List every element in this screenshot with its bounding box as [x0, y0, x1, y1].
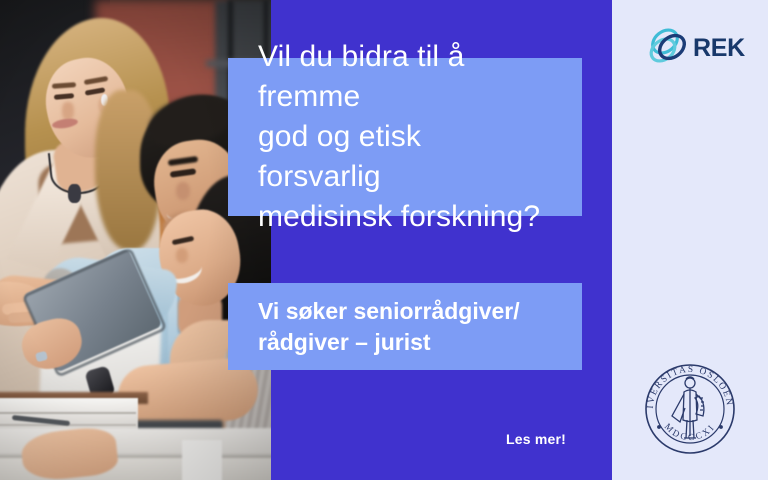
job-title-card: Vi søker seniorrådgiver/ rådgiver – juri…	[228, 283, 582, 370]
recruitment-banner: Vil du bidra til å fremme god og etisk f…	[0, 0, 768, 480]
rek-interlocking-rings-icon	[648, 26, 690, 71]
headline-card: Vil du bidra til å fremme god og etisk f…	[228, 58, 582, 216]
headline-text: Vil du bidra til å fremme god og etisk f…	[258, 37, 552, 237]
logo-panel: REK UNIVERSITAS OSLOENSIS MDCCCXI	[612, 0, 768, 480]
job-title-text: Vi søker seniorrådgiver/ rådgiver – juri…	[258, 296, 520, 358]
rek-wordmark: REK	[693, 36, 745, 61]
read-more-link[interactable]: Les mer!	[506, 431, 566, 447]
uio-seal: UNIVERSITAS OSLOENSIS MDCCCXI	[639, 358, 741, 465]
rek-logo[interactable]: REK	[648, 26, 745, 71]
